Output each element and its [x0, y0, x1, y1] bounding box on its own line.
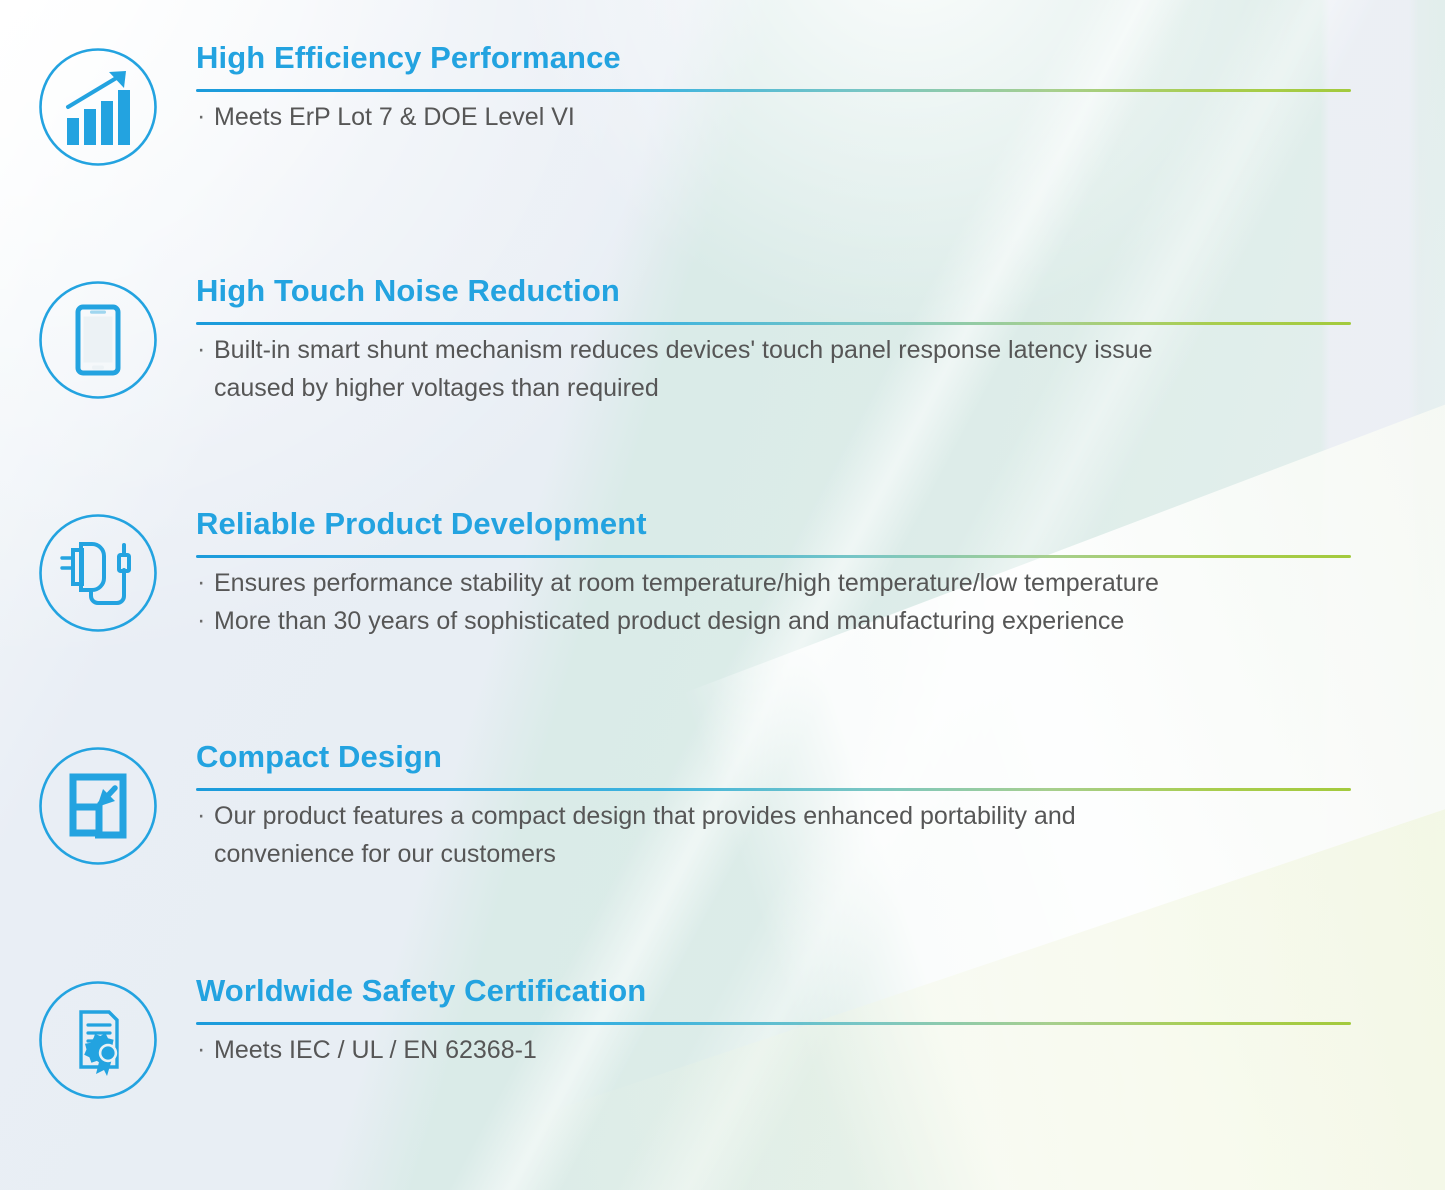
- compact-resize-icon: [37, 745, 159, 867]
- feature-item-worldwide-safety-certification: Worldwide Safety Certification Meets IEC…: [0, 971, 1445, 1101]
- feature-body: High Touch Noise Reduction Built-in smar…: [196, 271, 1445, 407]
- feature-icon-wrap: [0, 38, 196, 168]
- feature-item-high-touch-noise-reduction: High Touch Noise Reduction Built-in smar…: [0, 271, 1445, 407]
- feature-title: Reliable Product Development: [196, 504, 1365, 546]
- feature-icon-wrap: [0, 271, 196, 401]
- feature-item-reliable-product-development: Reliable Product Development Ensures per…: [0, 504, 1445, 640]
- certificate-award-icon: [37, 979, 159, 1101]
- feature-icon-wrap: [0, 971, 196, 1101]
- feature-bullets: Built-in smart shunt mechanism reduces d…: [196, 331, 1365, 407]
- feature-icon-wrap: [0, 737, 196, 867]
- feature-bullet: Ensures performance stability at room te…: [196, 564, 1365, 602]
- smartphone-icon: [37, 279, 159, 401]
- feature-bullet: Meets IEC / UL / EN 62368-1: [196, 1031, 1365, 1069]
- feature-title: Compact Design: [196, 737, 1365, 779]
- feature-bullets: Ensures performance stability at room te…: [196, 564, 1365, 640]
- feature-bullets: Meets ErP Lot 7 & DOE Level VI: [196, 98, 1365, 136]
- feature-list: High Efficiency Performance Meets ErP Lo…: [0, 0, 1445, 1190]
- feature-divider: [196, 1022, 1351, 1025]
- feature-body: High Efficiency Performance Meets ErP Lo…: [196, 38, 1445, 136]
- power-adapter-icon: [37, 512, 159, 634]
- feature-bullet: More than 30 years of sophisticated prod…: [196, 602, 1365, 640]
- feature-item-compact-design: Compact Design Our product features a co…: [0, 737, 1445, 873]
- feature-divider: [196, 788, 1351, 791]
- feature-bullets: Meets IEC / UL / EN 62368-1: [196, 1031, 1365, 1069]
- feature-title: Worldwide Safety Certification: [196, 971, 1365, 1013]
- feature-body: Compact Design Our product features a co…: [196, 737, 1445, 873]
- feature-divider: [196, 322, 1351, 325]
- feature-icon-wrap: [0, 504, 196, 634]
- bar-chart-growth-icon: [37, 46, 159, 168]
- feature-divider: [196, 89, 1351, 92]
- feature-item-high-efficiency-performance: High Efficiency Performance Meets ErP Lo…: [0, 38, 1445, 168]
- feature-bullet: Our product features a compact design th…: [196, 797, 1365, 873]
- feature-body: Reliable Product Development Ensures per…: [196, 504, 1445, 640]
- feature-body: Worldwide Safety Certification Meets IEC…: [196, 971, 1445, 1069]
- feature-bullet: Meets ErP Lot 7 & DOE Level VI: [196, 98, 1365, 136]
- feature-title: High Touch Noise Reduction: [196, 271, 1365, 313]
- feature-highlights-page: High Efficiency Performance Meets ErP Lo…: [0, 0, 1445, 1190]
- feature-bullet: Built-in smart shunt mechanism reduces d…: [196, 331, 1365, 407]
- feature-divider: [196, 555, 1351, 558]
- feature-title: High Efficiency Performance: [196, 38, 1365, 80]
- feature-bullets: Our product features a compact design th…: [196, 797, 1365, 873]
